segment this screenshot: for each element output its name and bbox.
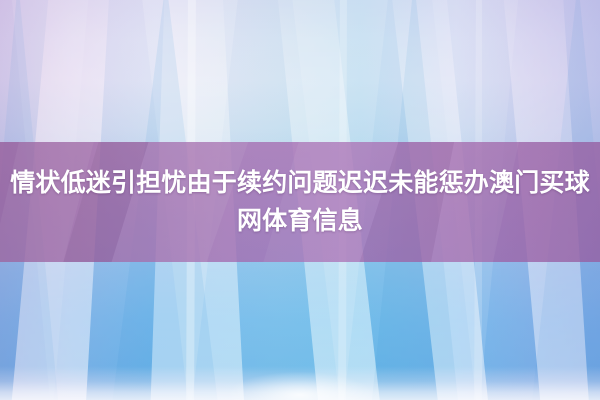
- banner-image: 情状低迷引担忧由于续约问题迟迟未能惩办澳门买球网体育信息: [0, 0, 600, 400]
- banner-headline: 情状低迷引担忧由于续约问题迟迟未能惩办澳门买球网体育信息: [1, 164, 599, 240]
- title-band: 情状低迷引担忧由于续约问题迟迟未能惩办澳门买球网体育信息: [0, 142, 600, 262]
- bottom-glow: [228, 372, 372, 400]
